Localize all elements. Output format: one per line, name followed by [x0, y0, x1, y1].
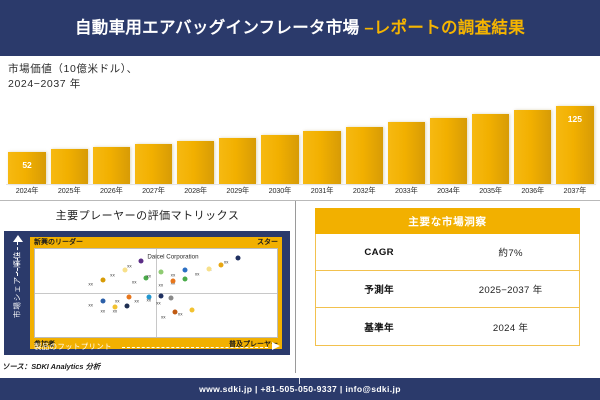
matrix-data-point	[219, 262, 224, 267]
bar-column	[51, 100, 88, 184]
matrix-data-point-label: xx	[171, 272, 176, 277]
matrix-data-point-label: xx	[132, 280, 137, 285]
matrix-data-point	[122, 268, 127, 273]
bar-column	[93, 100, 130, 184]
matrix-data-point-label: xx	[161, 314, 166, 319]
matrix-y-axis-label: 市場シェア・順位	[12, 235, 23, 335]
key-insights-table: CAGR約7%予測年2025−2037 年基準年2024 年	[315, 234, 580, 346]
matrix-data-point-label: xx	[110, 272, 115, 277]
bar-column	[219, 100, 256, 184]
matrix-data-point	[168, 296, 173, 301]
market-value-chart: 市場価値（10億米ドル）、 2024−2037 年 52125 2024年202…	[0, 56, 600, 200]
matrix-data-point-label: xx	[146, 274, 151, 279]
x-tick-label: 2025年	[51, 186, 88, 200]
matrix-frame: 市場シェア・順位 新興のリーダー スター 参加者 普及プレーヤー Daicel …	[4, 231, 290, 355]
matrix-data-point	[190, 307, 195, 312]
matrix-data-point	[207, 267, 212, 272]
matrix-title: 主要プレーヤーの評価マトリックス	[0, 207, 295, 223]
x-tick-label: 2037年	[556, 186, 593, 200]
insight-row: 基準年2024 年	[316, 308, 579, 345]
bar-column	[135, 100, 172, 184]
player-matrix-panel: 主要プレーヤーの評価マトリックス 市場シェア・順位 新興のリーダー スター 参加…	[0, 201, 295, 373]
x-tick-label: 2032年	[346, 186, 383, 200]
matrix-data-point	[236, 255, 241, 260]
matrix-data-point-label: xx	[88, 303, 93, 308]
bar	[219, 138, 256, 184]
x-tick-label: 2028年	[177, 186, 214, 200]
footer-banner: www.sdki.jp | +81-505-050-9337 | info@sd…	[0, 378, 600, 400]
x-tick-label: 2024年	[8, 186, 45, 200]
x-tick-label: 2033年	[388, 186, 425, 200]
matrix-data-point-label: xx	[178, 312, 183, 317]
footer-contact-text: www.sdki.jp | +81-505-050-9337 | info@sd…	[199, 384, 401, 394]
bar	[51, 149, 88, 184]
matrix-data-point	[100, 277, 105, 282]
insight-value: 2024 年	[442, 320, 579, 334]
bar	[388, 122, 425, 184]
page-title-accent: –レポートの調査結果	[364, 19, 525, 37]
bar-series: 52125	[6, 100, 596, 184]
x-tick-label: 2034年	[430, 186, 467, 200]
chart-axis-line	[6, 184, 596, 185]
matrix-data-point	[183, 268, 188, 273]
bar	[93, 147, 130, 184]
bar-column	[177, 100, 214, 184]
bar	[177, 141, 214, 184]
bar-column: 52	[8, 100, 45, 184]
bar	[430, 118, 467, 184]
matrix-x-axis-label: 製品のフットプリント	[34, 341, 112, 352]
bar-value-label: 125	[556, 114, 593, 124]
matrix-data-point-label: xx	[88, 282, 93, 287]
x-tick-label: 2026年	[93, 186, 130, 200]
bar-column: 125	[556, 100, 593, 184]
x-tick-label: 2035年	[472, 186, 509, 200]
quadrant-divider-horizontal	[35, 293, 277, 294]
insight-key: CAGR	[316, 247, 442, 258]
bar	[472, 114, 509, 184]
x-tick-label: 2029年	[219, 186, 256, 200]
arrow-right-icon	[272, 342, 280, 350]
chart-subtitle: 市場価値（10億米ドル）、 2024−2037 年	[8, 62, 138, 92]
matrix-data-point	[139, 259, 144, 264]
bar	[303, 131, 340, 184]
bar: 52	[8, 152, 45, 184]
bar-column	[514, 100, 551, 184]
bar: 125	[556, 106, 593, 184]
header-banner: 自動車用エアバッグインフレータ市場 –レポートの調査結果	[0, 0, 600, 56]
bar	[514, 110, 551, 184]
insight-value: 2025−2037 年	[442, 282, 579, 296]
x-tick-label: 2036年	[514, 186, 551, 200]
insight-value: 約7%	[442, 245, 579, 259]
x-axis-dashed-line	[122, 347, 268, 348]
matrix-data-point-label: xx	[115, 298, 120, 303]
section-divider-vertical	[295, 201, 296, 373]
matrix-data-point-label: xx	[127, 263, 132, 268]
quadrant-label-emerging-leaders: 新興のリーダー	[34, 237, 83, 247]
matrix-data-point-label: xx	[159, 283, 164, 288]
x-tick-label: 2030年	[261, 186, 298, 200]
matrix-scatter-plot: Daicel Corporation xxxxxxxxxxxxxxxxxxxxx…	[34, 248, 278, 338]
matrix-data-point-label: xx	[100, 309, 105, 314]
matrix-data-point	[124, 304, 129, 309]
matrix-data-point-label: xx	[156, 300, 161, 305]
x-tick-label: 2027年	[135, 186, 172, 200]
source-note: ソース：SDKI Analytics 分析	[2, 361, 100, 372]
matrix-data-point	[170, 278, 175, 283]
matrix-data-point-label: xx	[146, 298, 151, 303]
bar-column	[388, 100, 425, 184]
chart-x-tick-labels: 2024年2025年2026年2027年2028年2029年2030年2031年…	[6, 186, 596, 200]
matrix-y-axis: 市場シェア・順位	[4, 231, 30, 355]
x-tick-label: 2031年	[303, 186, 340, 200]
matrix-quadrant-container: 新興のリーダー スター 参加者 普及プレーヤー Daicel Corporati…	[30, 237, 282, 349]
chart-plot-area: 52125 2024年2025年2026年2027年2028年2029年2030…	[6, 100, 596, 200]
matrix-data-point-label: xx	[224, 260, 229, 265]
matrix-data-point-label: xx	[195, 271, 200, 276]
matrix-data-point	[158, 293, 163, 298]
key-insights-header: 主要な市場洞察	[315, 208, 580, 234]
page-title: 自動車用エアバッグインフレータ市場 –レポートの調査結果	[67, 17, 533, 39]
insight-row: CAGR約7%	[316, 234, 579, 271]
matrix-data-point	[127, 294, 132, 299]
matrix-data-point-label: xx	[134, 298, 139, 303]
bar-column	[472, 100, 509, 184]
bar	[261, 135, 298, 184]
page-title-primary: 自動車用エアバッグインフレータ市場	[75, 19, 364, 37]
bar	[135, 144, 172, 184]
highlight-company-label: Daicel Corporation	[147, 253, 198, 260]
matrix-data-point-label: xx	[113, 308, 118, 313]
bar-column	[261, 100, 298, 184]
insight-key: 基準年	[316, 320, 442, 334]
matrix-data-point	[183, 276, 188, 281]
bar-column	[303, 100, 340, 184]
insight-key: 予測年	[316, 282, 442, 296]
bar-value-label: 52	[8, 160, 45, 170]
key-insights-header-label: 主要な市場洞察	[408, 214, 486, 229]
matrix-data-point	[158, 269, 163, 274]
matrix-data-point	[100, 298, 105, 303]
matrix-x-axis: 製品のフットプリント	[30, 337, 282, 355]
key-insights-panel: 主要な市場洞察 CAGR約7%予測年2025−2037 年基準年2024 年	[305, 208, 590, 366]
quadrant-label-stars: スター	[257, 237, 278, 247]
insight-row: 予測年2025−2037 年	[316, 271, 579, 308]
bar-column	[346, 100, 383, 184]
bar	[346, 127, 383, 184]
bar-column	[430, 100, 467, 184]
footer-tick-mark	[299, 378, 300, 384]
